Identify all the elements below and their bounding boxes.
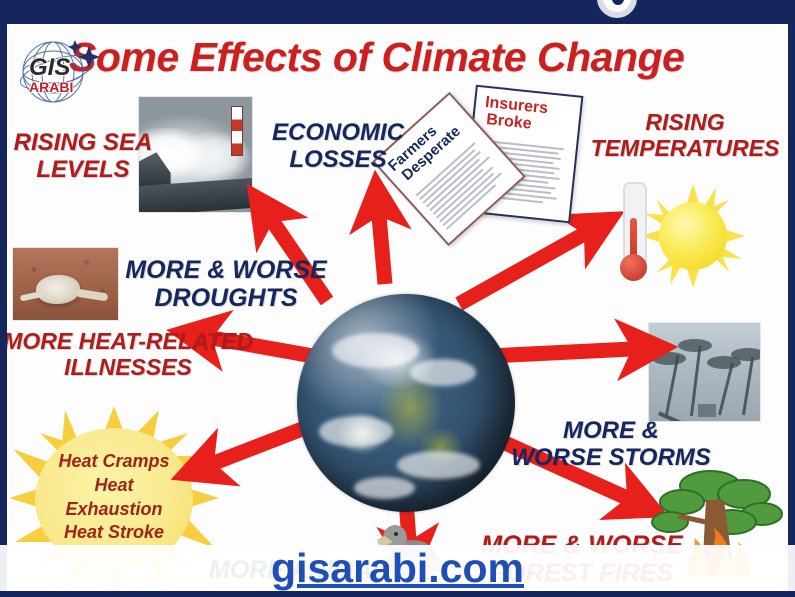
label-rising-sea-levels: RISING SEA LEVELS — [7, 130, 163, 184]
partial-logo-circle-icon — [597, 0, 637, 18]
logo-primary-text: GIS — [29, 54, 70, 81]
thermometer-bulb — [620, 254, 647, 281]
label-rising-temperatures: RISING TEMPERATURES — [585, 110, 785, 162]
label-line-1: MORE & WORSE — [121, 256, 331, 284]
thermometer-sun-icon — [605, 176, 745, 296]
label-line-2: LOSSES — [263, 147, 413, 174]
label-economic-losses: ECONOMIC LOSSES — [263, 120, 413, 174]
label-line-1: MORE HEAT-RELATED — [7, 329, 253, 355]
frame-right-border — [788, 24, 795, 597]
label-more-worse-storms: MORE & WORSE STORMS — [505, 418, 717, 472]
top-navy-bar — [0, 0, 795, 24]
frame-left-border — [0, 24, 7, 597]
page-title: Some Effects of Climate Change — [69, 34, 769, 81]
label-line-1: ECONOMIC — [263, 120, 413, 147]
infographic-canvas: RISING SEA LEVELS ECONOMIC LOSSES Insure… — [7, 26, 788, 591]
label-more-worse-droughts: MORE & WORSE DROUGHTS — [121, 256, 331, 312]
arrow-to-storms — [489, 349, 632, 356]
label-line-1: MORE & — [505, 418, 717, 445]
arrow-to-rising-temperatures — [459, 234, 584, 304]
logo-secondary-text: ARABI — [29, 79, 73, 95]
watermark-bar: gisarabi.com — [0, 545, 795, 591]
earth-globe-icon — [297, 294, 515, 512]
label-line-2: DROUGHTS — [121, 284, 331, 312]
label-line-2: ILLNESSES — [7, 355, 253, 381]
infographic-screen: RISING SEA LEVELS ECONOMIC LOSSES Insure… — [0, 0, 795, 597]
label-line-1: RISING SEA — [7, 130, 163, 157]
watermark-text: gisarabi.com — [271, 545, 524, 592]
label-line-2: TEMPERATURES — [585, 136, 785, 162]
frame-bottom-border — [0, 591, 795, 597]
sun-disc-icon — [659, 202, 727, 270]
label-line-2: LEVELS — [7, 157, 163, 184]
label-more-heat-related-illnesses: MORE HEAT-RELATED ILLNESSES — [7, 329, 253, 381]
label-line-2: WORSE STORMS — [505, 445, 717, 472]
arrow-to-economic-losses — [379, 216, 385, 284]
label-line-1: RISING — [585, 110, 785, 136]
gis-arabi-logo: GIS ARABI — [13, 32, 105, 110]
